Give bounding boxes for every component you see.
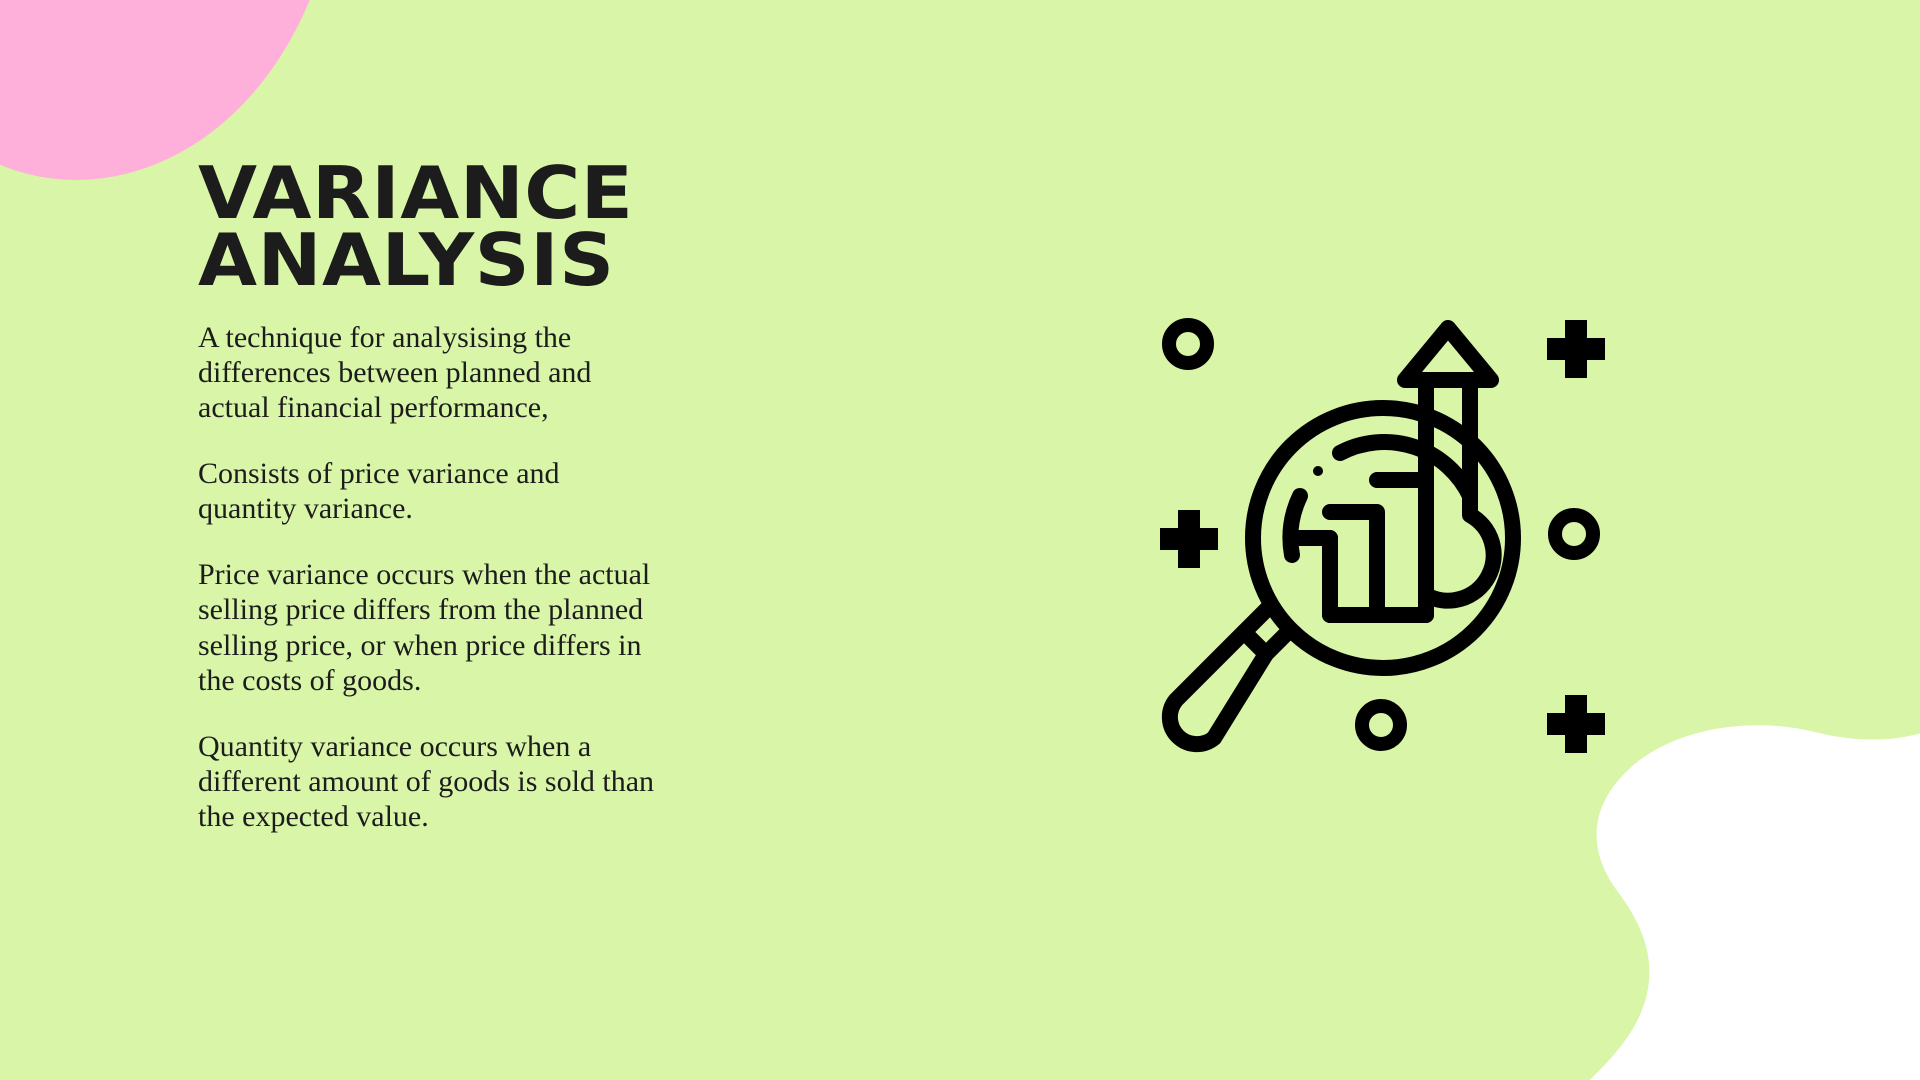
ring-icon-bottom-center <box>1362 706 1400 744</box>
paragraph-definition: A technique for analysising the differen… <box>198 320 838 425</box>
ring-icon-mid-right <box>1555 515 1593 553</box>
body-copy: A technique for analysising the differen… <box>198 320 838 834</box>
handle-grip <box>1170 632 1266 744</box>
text-column: VARIANCE ANALYSIS A technique for analys… <box>198 160 838 834</box>
lens-inner-arc-left <box>1290 496 1300 555</box>
paragraph-composition: Consists of price variance and quantity … <box>198 456 838 526</box>
slide-canvas: VARIANCE ANALYSIS A technique for analys… <box>0 0 1920 1080</box>
ring-icon-top-left <box>1169 325 1207 363</box>
arrow-head <box>1405 328 1491 380</box>
lens-dot <box>1313 466 1323 476</box>
paragraph-price-variance: Price variance occurs when the actual se… <box>198 557 838 697</box>
magnifying-glass-chart-icon <box>1140 300 1620 780</box>
plus-icon-bottom-right <box>1547 695 1605 753</box>
plus-icon-top-right <box>1547 320 1605 378</box>
page-title: VARIANCE ANALYSIS <box>198 160 876 294</box>
paragraph-quantity-variance: Quantity variance occurs when a differen… <box>198 729 838 834</box>
plus-icon-mid-left <box>1160 510 1218 568</box>
